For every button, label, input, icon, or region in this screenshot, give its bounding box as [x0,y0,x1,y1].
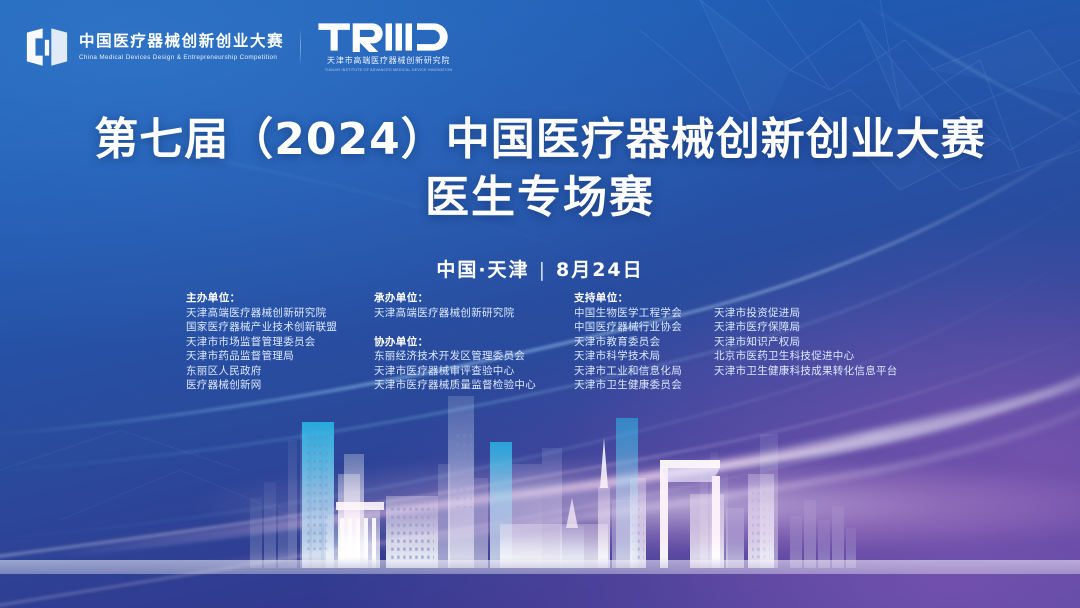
competition-logo-cn: 中国医疗器械创新创业大赛 [79,33,284,51]
list-item: 国家医疗器械产业技术创新联盟 [186,320,358,335]
coorganizer-heading: 协办单位： [374,335,558,350]
organizers-heading: 主办单位： [186,291,358,306]
supporters-heading: 支持单位： [574,291,706,306]
list-item: 天津市教育委员会 [574,335,706,350]
list-item: 天津市药品监督管理局 [186,349,358,364]
open-door-logo-icon [24,24,70,70]
ground-glow-decoration [0,436,1080,556]
institute-logo-cn: 天津市高端医疗器械创新研究院 [327,55,450,66]
list-item: 天津市医疗器械质量监督检验中心 [374,378,558,393]
list-item: 天津市知识产权局 [714,335,924,350]
list-item: 中国生物医学工程学会 [574,306,706,321]
list-item: 天津市市场监督管理委员会 [186,335,358,350]
list-item: 东丽区人民政府 [186,364,358,379]
event-location: 中国·天津 [436,259,529,281]
list-item: 天津市医疗器械审评查验中心 [374,364,558,379]
hero-subtitle: 中国·天津|8月24日 [0,255,1080,282]
list-item: 天津市科学技术局 [574,349,706,364]
list-item: 天津市工业和信息化局 [574,364,706,379]
list-item: 天津市卫生健康科技成果转化信息平台 [714,364,924,379]
organizations-block: 主办单位： 天津高端医疗器械创新研究院 国家医疗器械产业技术创新联盟 天津市市场… [186,291,924,393]
hero-title: 第七届（2024）中国医疗器械创新创业大赛 医生专场赛 [0,112,1080,227]
organizers-column: 主办单位： 天津高端医疗器械创新研究院 国家医疗器械产业技术创新联盟 天津市市场… [186,291,358,393]
city-skyline-decoration [0,378,1080,608]
poster-canvas: 中国医疗器械创新创业大赛 China Medical Devices Desig… [0,0,1080,608]
list-item: 天津市投资促进局 [714,306,924,321]
column-spacer [374,320,558,335]
list-item: 东丽经济技术开发区管理委员会 [374,349,558,364]
competition-logo: 中国医疗器械创新创业大赛 China Medical Devices Desig… [24,24,284,70]
subtitle-separator: | [539,259,547,281]
hero-title-line2: 医生专场赛 [0,170,1080,226]
logo-bar: 中国医疗器械创新创业大赛 China Medical Devices Desig… [24,22,460,72]
hosts-column: 承办单位： 天津高端医疗器械创新研究院 协办单位： 东丽经济技术开发区管理委员会… [374,291,558,393]
logo-divider [300,27,301,67]
undertaker-heading: 承办单位： [374,291,558,306]
trmd-wordmark-icon [317,22,460,52]
hero-title-line1: 第七届（2024）中国医疗器械创新创业大赛 [0,112,1080,168]
supporters-column-a: 支持单位： 中国生物医学工程学会 中国医疗器械行业协会 天津市教育委员会 天津市… [574,291,706,393]
institute-logo: 天津市高端医疗器械创新研究院 TIANJIN INSTITUTE OF ADVA… [317,22,460,72]
list-item: 天津高端医疗器械创新研究院 [186,306,358,321]
list-item: 北京市医药卫生科技促进中心 [714,349,924,364]
list-item: 医疗器械创新网 [186,378,358,393]
list-item: 天津高端医疗器械创新研究院 [374,306,558,321]
supporters-column-b: 天津市投资促进局 天津市医疗保障局 天津市知识产权局 北京市医药卫生科技促进中心… [714,291,924,378]
competition-logo-en: China Medical Devices Design & Entrepren… [79,54,288,61]
institute-logo-en: TIANJIN INSTITUTE OF ADVANCED MEDICAL DE… [325,68,452,72]
event-date: 8月24日 [556,259,644,281]
list-item: 天津市卫生健康委员会 [574,378,706,393]
list-item: 中国医疗器械行业协会 [574,320,706,335]
list-item: 天津市医疗保障局 [714,320,924,335]
